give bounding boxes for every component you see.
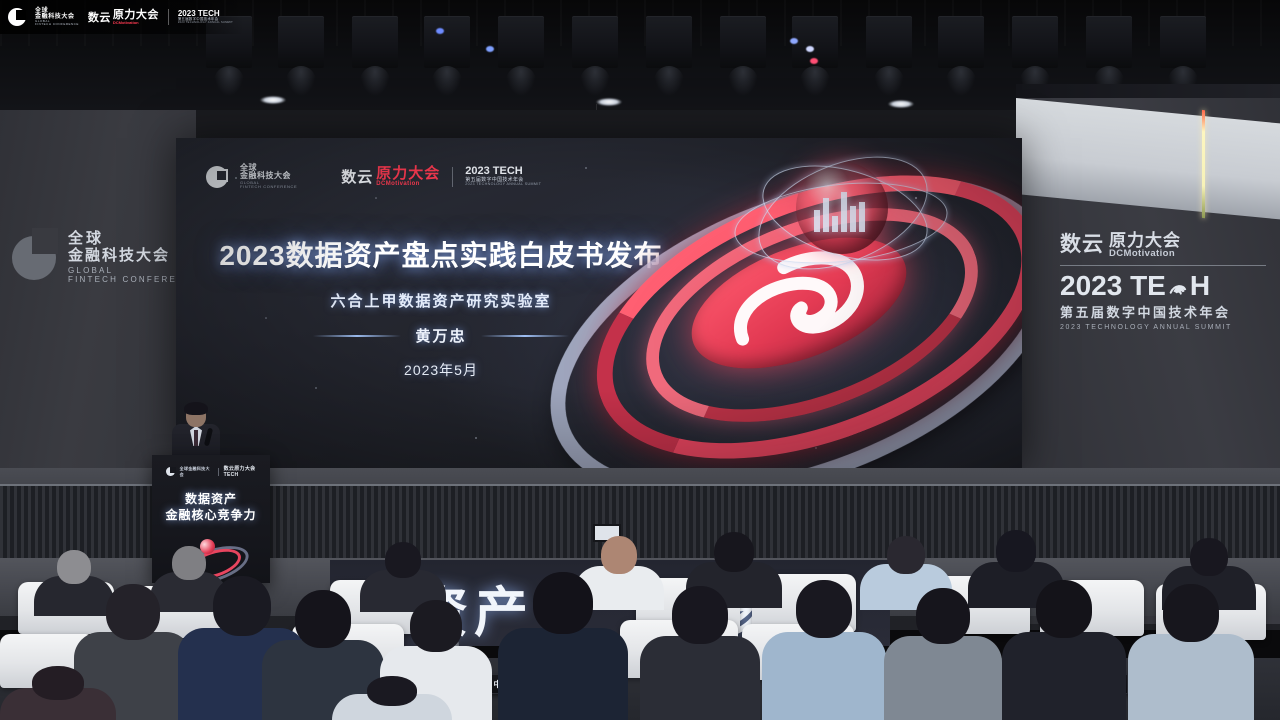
- person-head: [601, 536, 637, 574]
- person-head: [1190, 538, 1228, 576]
- person-head: [887, 536, 925, 574]
- audience-member: [640, 586, 760, 720]
- audience-member: [1128, 584, 1254, 720]
- person-shoulders: [884, 636, 1002, 720]
- podium-title-line2: 金融核心竞争力: [152, 507, 270, 523]
- right-wall-brand-cn: 数云: [1060, 228, 1104, 258]
- stage-light-rig: [866, 16, 912, 68]
- right-wall-brand-stack: 原力大会 DCMotivation: [1109, 232, 1181, 259]
- right-wall-brand-en: DCMotivation: [1109, 249, 1181, 259]
- screen-dc-cn-a: 数云: [341, 166, 373, 187]
- audience-area: 中国进出口银行 中信银行 中信银行: [0, 528, 1280, 720]
- logo-divider: [168, 9, 169, 25]
- conference-stage-photo: 全球 金融科技大会 GLOBAL FINTECH CONFERENCE 数云 原…: [0, 0, 1280, 720]
- right-wall-sub-cn: 第五届数字中国技术年会: [1060, 302, 1266, 321]
- audience-member: [0, 666, 116, 720]
- screen-3d-artwork: [574, 160, 1022, 468]
- person-head: [796, 580, 852, 638]
- fintech-logo-icon: [12, 228, 58, 288]
- lamp-indicator: [810, 58, 818, 64]
- fintech-logo-icon: [166, 467, 175, 476]
- podium-title-line1: 数据资产: [152, 491, 270, 507]
- lamp-indicator: [806, 46, 814, 52]
- podium-title: 数据资产 金融核心竞争力: [152, 491, 270, 523]
- main-led-screen: 全球 金融科技大会 GLOBAL FINTECH CONFERENCE 数云 原…: [176, 138, 1022, 468]
- screen-tech-line3: 2023 TECHNOLOGY ANNUAL SUMMIT: [465, 183, 541, 187]
- stage-spotlight: [260, 96, 286, 104]
- left-wall-branding: 全球 金融科技大会 GLOBAL FINTECH CONFERENCE: [12, 228, 201, 288]
- person-head: [32, 666, 84, 700]
- fintech-logo-icon: [206, 166, 228, 188]
- name-rule-left: [313, 335, 401, 337]
- stage-light-rig: [278, 16, 324, 68]
- person-head: [533, 572, 593, 634]
- stage-light-rig: [1012, 16, 1058, 68]
- speaker-name: 黄万忠: [415, 325, 466, 346]
- stage-spotlight: [888, 100, 914, 108]
- stage-light-rig: [424, 16, 470, 68]
- stage-light-rig: [938, 16, 984, 68]
- audience-member: [762, 580, 886, 720]
- person-shoulders: [1002, 632, 1126, 720]
- right-wall-year-tail: H: [1190, 272, 1210, 300]
- person-shoulders: [498, 628, 628, 720]
- broadcast-logo-overlay: 全球 金融科技大会 GLOBAL FINTECH CONFERENCE 数云 原…: [0, 0, 244, 34]
- stage-light-rig: [720, 16, 766, 68]
- person-head: [367, 676, 417, 706]
- speaker-hair: [184, 402, 208, 415]
- right-wall-logo-row: 数云 原力大会 DCMotivation: [1060, 228, 1266, 258]
- right-wall-sub-en: 2023 TECHNOLOGY ANNUAL SUMMIT: [1060, 324, 1266, 331]
- person-shoulders: [1128, 634, 1254, 720]
- podium-logo-dc: 数云原力大会 TECH: [224, 465, 270, 478]
- person-shoulders: [762, 632, 886, 720]
- stage-light-rig: [1160, 16, 1206, 68]
- stage-light-rig: [572, 16, 618, 68]
- right-wall-branding: 数云 原力大会 DCMotivation 2023 TE H 第五届数字中国技术…: [1060, 228, 1266, 331]
- audience-member: [498, 572, 628, 720]
- overlay-tech-logo: 2023 TECH 第五届数字中国技术年会 2023 TECHNOLOGY AN…: [178, 10, 233, 25]
- stage-light-rig: [352, 16, 398, 68]
- audience-member: [884, 588, 1002, 720]
- person-head: [385, 542, 421, 578]
- person-head: [1036, 580, 1092, 638]
- audience-member: [1002, 580, 1126, 720]
- person-head: [672, 586, 728, 644]
- name-rule-right: [481, 335, 569, 337]
- screen-dc-cn-b: 原力大会: [376, 166, 440, 181]
- right-wall-year-row: 2023 TE H: [1060, 272, 1266, 300]
- audience-member: [332, 676, 452, 720]
- person-head: [172, 546, 206, 580]
- overlay-global-text: 全球 金融科技大会 GLOBAL FINTECH CONFERENCE: [35, 8, 79, 27]
- person-head: [916, 588, 970, 644]
- screen-global-en2: FINTECH CONFERENCE: [240, 185, 297, 189]
- screen-global-logo-text: 全球 金融科技大会 GLOBAL FINTECH CONFERENCE: [240, 164, 297, 189]
- speaker-tie: [194, 430, 198, 446]
- person-head: [106, 584, 160, 640]
- person-head: [295, 590, 351, 648]
- overlay-global-en2: FINTECH CONFERENCE: [35, 23, 79, 26]
- right-wall-brand-cn2: 原力大会: [1109, 232, 1181, 249]
- overlay-dc-en: DCMotivation: [113, 21, 159, 25]
- overlay-tech-en: 2023 TECHNOLOGY ANNUAL SUMMIT: [178, 22, 233, 25]
- screen-tech-logo: 2023 TECH 第五届数字中国技术年会 2023 TECHNOLOGY AN…: [465, 166, 541, 187]
- screen-logo-row: 全球 金融科技大会 GLOBAL FINTECH CONFERENCE 数云 原…: [206, 164, 541, 189]
- person-head: [714, 532, 754, 572]
- lamp-indicator: [486, 46, 494, 52]
- fintech-logo-icon: [8, 8, 26, 26]
- stage-spotlight: [596, 98, 622, 106]
- stage-light-rig: [498, 16, 544, 68]
- person-head: [57, 550, 91, 584]
- person-shoulders: [640, 636, 760, 720]
- overlay-dc-cn-a: 数云: [88, 9, 111, 25]
- person-head: [996, 530, 1036, 572]
- person-head: [410, 600, 462, 652]
- right-wall-top-edge: [1016, 84, 1280, 98]
- logo-divider: [452, 167, 453, 187]
- lamp-indicator: [790, 38, 798, 44]
- stage-light-rig: [646, 16, 692, 68]
- right-wall-divider: [1060, 265, 1266, 266]
- person-head: [1163, 584, 1219, 642]
- logo-divider: [218, 468, 219, 476]
- lamp-indicator: [436, 28, 444, 34]
- swirl-icon: [1167, 277, 1189, 299]
- right-wall-year: 2023 TE: [1060, 272, 1166, 300]
- podium-logo-cn: 全球金融科技大会: [180, 466, 213, 478]
- stage-light-rig: [1086, 16, 1132, 68]
- podium-logo-row: 全球金融科技大会 数云原力大会 TECH: [166, 465, 270, 478]
